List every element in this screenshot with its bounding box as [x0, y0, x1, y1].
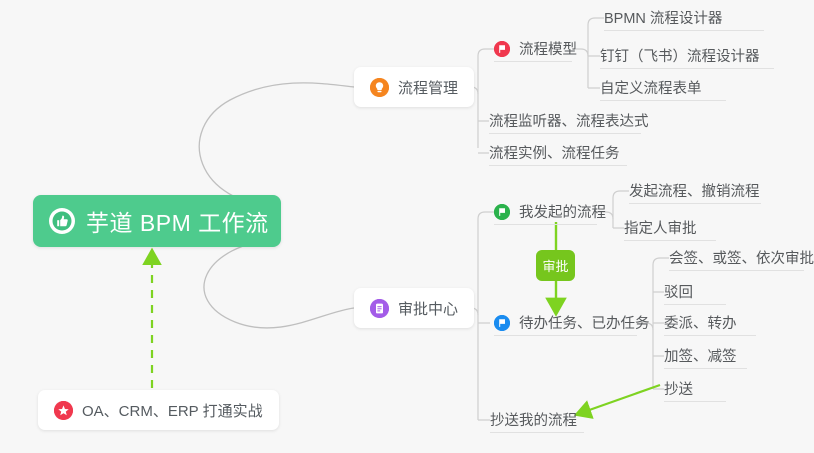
leaf-node-assignee-approve[interactable]: 指定人审批: [624, 215, 716, 241]
leaf-label: 流程模型: [519, 43, 577, 58]
leaf-node-todo-done-tasks[interactable]: 待办任务、已办任务: [494, 310, 637, 336]
leaf-node-bpmn-designer[interactable]: BPMN 流程设计器: [604, 5, 764, 31]
leaf-node-cc[interactable]: 抄送: [664, 376, 726, 402]
leaf-node-delegate-transfer[interactable]: 委派、转办: [664, 310, 756, 336]
branch-node-shenpi-zhongxin[interactable]: 审批中心: [354, 288, 474, 328]
flag-icon: [494, 204, 510, 220]
leaf-node-add-remove-sign[interactable]: 加签、减签: [664, 343, 747, 369]
bottom-node-label: OA、CRM、ERP 打通实战: [82, 400, 263, 421]
star-icon: [54, 401, 73, 420]
leaf-label: 委派、转办: [664, 317, 737, 332]
leaf-label: 流程监听器、流程表达式: [489, 115, 649, 130]
mindmap-canvas: 芋道 BPM 工作流 流程管理 流程模型 BPMN 流程设计器 钉钉（飞书）流程…: [0, 0, 814, 453]
leaf-label: 发起流程、撤销流程: [629, 185, 760, 200]
branch-label: 流程管理: [398, 77, 458, 98]
leaf-node-liucheng-moxing[interactable]: 流程模型: [494, 36, 572, 62]
leaf-node-instance-task[interactable]: 流程实例、流程任务: [489, 140, 627, 166]
flag-icon: [494, 315, 510, 331]
leaf-node-custom-form[interactable]: 自定义流程表单: [600, 75, 726, 101]
leaf-label: 指定人审批: [624, 222, 697, 237]
thumbs-up-icon: [49, 208, 75, 234]
approve-flow-label[interactable]: 审批: [536, 250, 575, 281]
leaf-node-multi-approve[interactable]: 会签、或签、依次审批: [669, 245, 804, 271]
leaf-label: 抄送我的流程: [490, 414, 577, 429]
leaf-node-my-initiated-flow[interactable]: 我发起的流程: [494, 199, 597, 225]
leaf-label: 抄送: [664, 383, 693, 398]
root-node[interactable]: 芋道 BPM 工作流: [33, 195, 281, 247]
leaf-label: 自定义流程表单: [600, 82, 702, 97]
lightbulb-icon: [370, 78, 389, 97]
flag-icon: [494, 41, 510, 57]
branch-node-liucheng-guanli[interactable]: 流程管理: [354, 67, 474, 107]
leaf-node-reject[interactable]: 驳回: [664, 279, 726, 305]
leaf-label: 待办任务、已办任务: [519, 317, 650, 332]
root-label: 芋道 BPM 工作流: [86, 204, 269, 238]
bottom-node-oa-crm-erp[interactable]: OA、CRM、ERP 打通实战: [38, 390, 279, 430]
leaf-node-dingtalk-designer[interactable]: 钉钉（飞书）流程设计器: [600, 43, 774, 69]
leaf-node-start-cancel-flow[interactable]: 发起流程、撤销流程: [629, 178, 761, 204]
clipboard-icon: [370, 299, 389, 318]
leaf-label: 会签、或签、依次审批: [669, 252, 814, 267]
approve-flow-label-text: 审批: [542, 256, 568, 275]
leaf-node-cc-to-me[interactable]: 抄送我的流程: [490, 407, 584, 433]
leaf-label: BPMN 流程设计器: [604, 12, 722, 27]
leaf-label: 流程实例、流程任务: [489, 147, 620, 162]
leaf-label: 我发起的流程: [519, 206, 606, 221]
branch-label: 审批中心: [398, 298, 458, 319]
leaf-node-listener-expression[interactable]: 流程监听器、流程表达式: [489, 108, 641, 134]
leaf-label: 驳回: [664, 286, 693, 301]
leaf-label: 钉钉（飞书）流程设计器: [600, 50, 760, 65]
leaf-label: 加签、减签: [664, 350, 737, 365]
